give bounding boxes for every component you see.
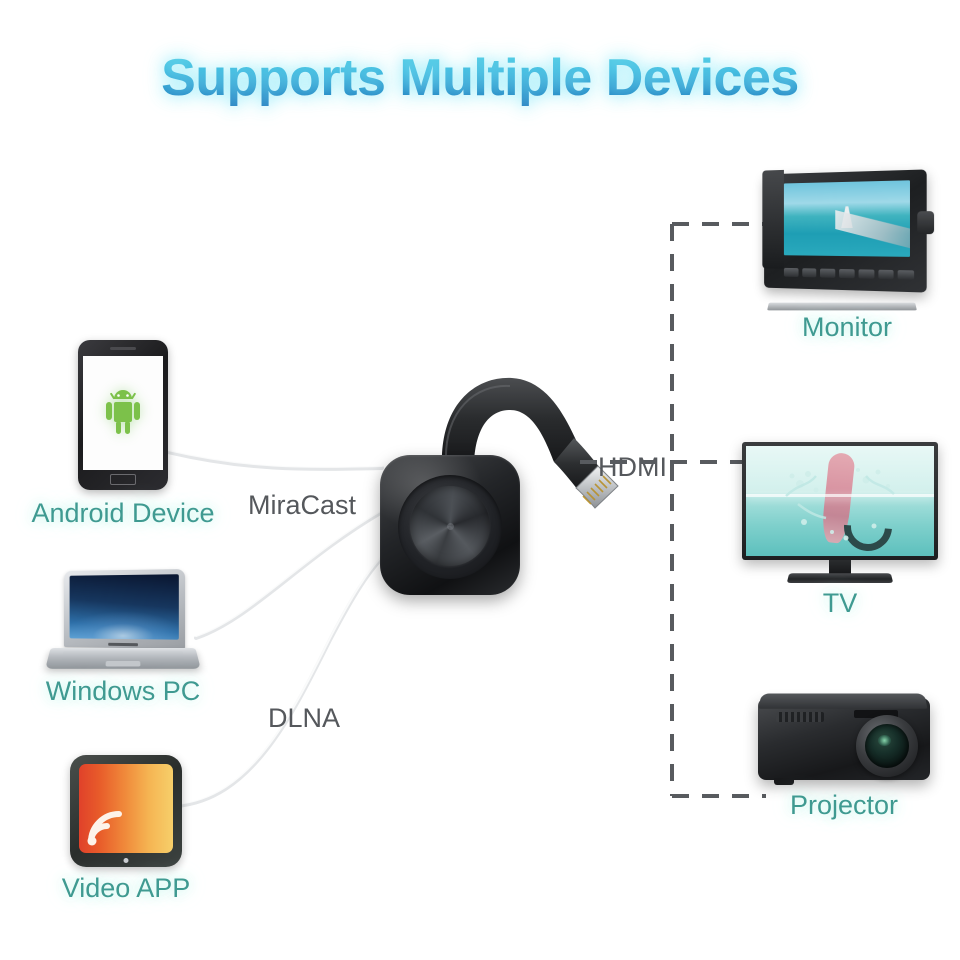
source-device-windows-pc[interactable]: Windows PC: [48, 570, 198, 675]
monitor-button[interactable]: [802, 268, 817, 277]
monitor-base: [767, 303, 917, 311]
source-device-video-app[interactable]: Video APP: [70, 755, 182, 867]
port-label-hdmi: HDMI: [598, 452, 667, 483]
hdmi-dongle[interactable]: [378, 370, 678, 620]
projector-vent: [776, 712, 824, 722]
output-device-tv[interactable]: TV: [742, 442, 938, 588]
output-device-projector-label: Projector: [790, 790, 898, 821]
monitor-mount-knob[interactable]: [917, 211, 934, 234]
android-robot-icon: [100, 387, 146, 439]
dongle-body: [380, 455, 520, 595]
laptop-brand-strip: [108, 643, 138, 646]
projector-top-panel: [759, 693, 928, 708]
tablet-screen: [79, 764, 173, 853]
output-device-tv-label: TV: [823, 588, 858, 619]
dongle-dial-button[interactable]: [410, 486, 490, 566]
tv-screen: [746, 446, 934, 556]
projector-lens-ring: [856, 715, 918, 777]
source-device-windows-pc-label: Windows PC: [46, 676, 201, 707]
laptop-lid: [64, 569, 185, 649]
projector-lens-glass: [865, 724, 909, 768]
monitor-button[interactable]: [839, 268, 854, 277]
source-device-video-app-label: Video APP: [62, 873, 191, 904]
laptop-base: [45, 648, 201, 669]
output-device-monitor-label: Monitor: [802, 312, 892, 343]
source-device-android-label: Android Device: [31, 498, 214, 529]
phone-earpiece-icon: [110, 347, 136, 350]
page-title: Supports Multiple Devices: [0, 48, 960, 108]
tv-stand-base: [787, 573, 894, 583]
phone-home-button[interactable]: [110, 474, 136, 485]
tv-image-splash: [746, 446, 934, 556]
output-device-projector[interactable]: Projector: [752, 690, 936, 794]
tablet-home-button[interactable]: [124, 858, 129, 863]
tv-shell: [742, 442, 938, 560]
monitor-image-pier: [835, 210, 910, 250]
monitor-button[interactable]: [784, 267, 798, 276]
phone-body: [78, 340, 168, 490]
projector-body: [758, 698, 930, 780]
tv-stand-neck: [829, 560, 851, 574]
monitor-sun-hood: [762, 170, 784, 269]
laptop-screen: [70, 574, 179, 639]
phone-screen: [83, 356, 163, 470]
projector-foot: [774, 778, 794, 785]
protocol-label-miracast: MiraCast: [248, 490, 356, 521]
monitor-button[interactable]: [898, 270, 914, 280]
output-device-monitor[interactable]: Monitor: [758, 172, 936, 304]
protocol-label-dlna: DLNA: [268, 703, 340, 734]
monitor-shell: [764, 169, 927, 292]
monitor-button-bar[interactable]: [784, 265, 914, 282]
laptop-keyboard: [62, 651, 185, 660]
laptop-trackpad: [106, 661, 141, 666]
monitor-screen: [784, 180, 910, 257]
monitor-button[interactable]: [858, 269, 874, 278]
infographic-canvas: Supports Multiple Devices: [0, 0, 960, 960]
tablet-body: [70, 755, 182, 867]
projector-lens-glint: [878, 735, 891, 746]
monitor-button[interactable]: [878, 269, 894, 279]
monitor-button[interactable]: [820, 268, 835, 277]
cast-waves-icon: [86, 801, 132, 847]
source-device-android[interactable]: Android Device: [78, 340, 168, 490]
